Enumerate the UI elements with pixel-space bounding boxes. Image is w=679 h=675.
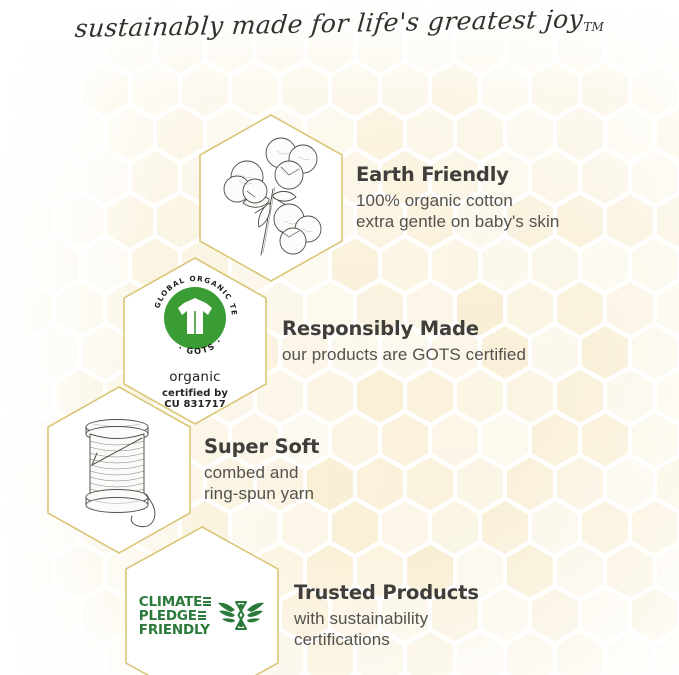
feature-copy: Trusted Products with sustainability cer… bbox=[294, 581, 479, 651]
thread-spool-sketch-icon bbox=[63, 407, 175, 533]
product-feature-infographic: sustainably made for life's greatest joy… bbox=[0, 0, 679, 675]
feature-subtitle-line-1: with sustainability bbox=[294, 608, 479, 630]
feature-title: Earth Friendly bbox=[356, 163, 559, 188]
cpf-bars-icon bbox=[198, 611, 206, 620]
feature-copy: Responsibly Made our products are GOTS c… bbox=[282, 317, 526, 366]
cotton-plant-sketch-icon bbox=[211, 131, 331, 266]
cpf-line-1: CLIMATE bbox=[139, 595, 202, 609]
feature-subtitle-line-2: extra gentle on baby's skin bbox=[356, 211, 559, 233]
feature-copy: Super Soft combed and ring-spun yarn bbox=[204, 435, 319, 505]
headline-text: sustainably made for life's greatest joy bbox=[74, 4, 585, 43]
hexagon-frame-climate-pledge: CLIMATE PLEDGE FRIENDLY bbox=[122, 524, 282, 675]
feature-title: Trusted Products bbox=[294, 581, 479, 606]
feature-title: Responsibly Made bbox=[282, 317, 526, 342]
cpf-line-3: FRIENDLY bbox=[139, 623, 210, 637]
climate-pledge-friendly-logo: CLIMATE PLEDGE FRIENDLY bbox=[139, 595, 265, 638]
cpf-bars-icon bbox=[203, 597, 211, 606]
feature-copy: Earth Friendly 100% organic cotton extra… bbox=[356, 163, 559, 233]
feature-trusted-products: CLIMATE PLEDGE FRIENDLY bbox=[122, 524, 479, 675]
feature-subtitle-line-2: ring-spun yarn bbox=[204, 483, 319, 505]
feature-subtitle-line-1: our products are GOTS certified bbox=[282, 344, 526, 366]
headline-tagline: sustainably made for life's greatest joy… bbox=[0, 14, 679, 43]
trademark-symbol: TM bbox=[583, 20, 603, 34]
feature-subtitle-line-2: certifications bbox=[294, 629, 479, 651]
gots-organic-label: organic bbox=[169, 369, 221, 385]
feature-subtitle-line-1: combed and bbox=[204, 462, 319, 484]
cpf-line-2: PLEDGE bbox=[139, 609, 197, 623]
feature-subtitle-line-1: 100% organic cotton bbox=[356, 190, 559, 212]
winged-hourglass-icon bbox=[217, 596, 265, 636]
feature-title: Super Soft bbox=[204, 435, 319, 460]
